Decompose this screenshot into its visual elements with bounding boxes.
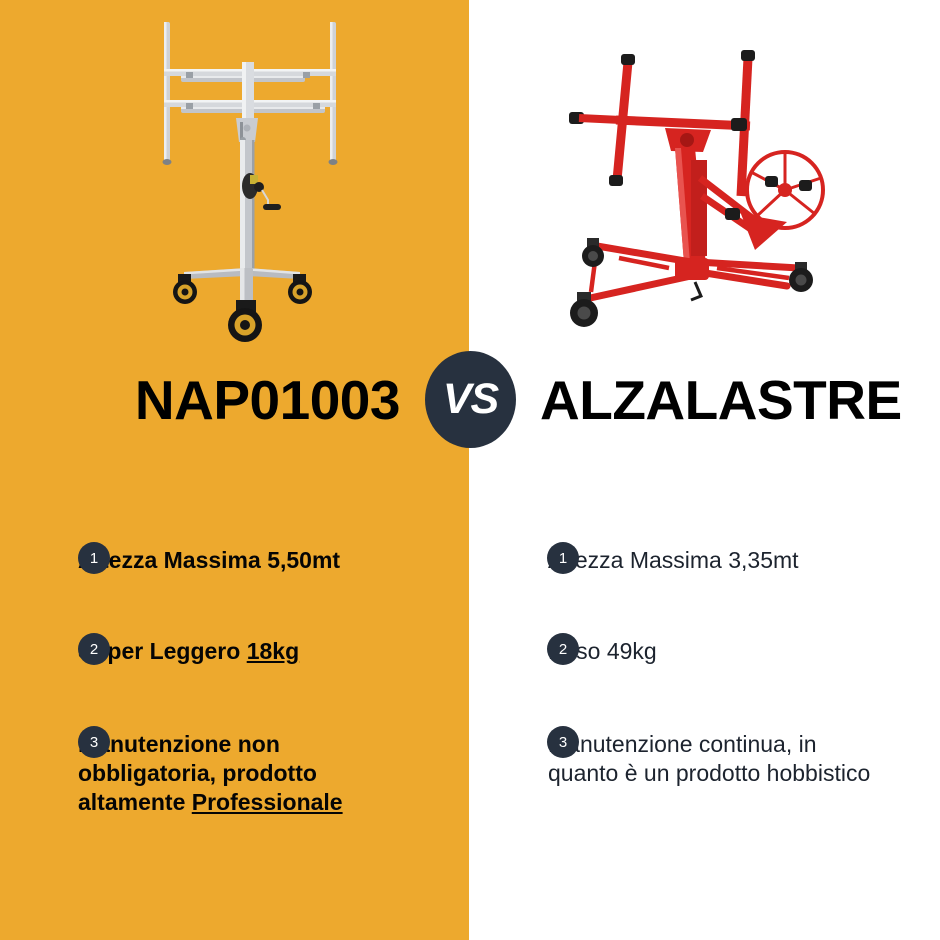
right-product-image xyxy=(469,0,940,350)
feature-row: Super Leggero 18kg Peso 49kg 2 2 xyxy=(0,611,940,704)
silver-drywall-lift-illustration xyxy=(0,0,469,350)
base-wheel xyxy=(582,238,604,267)
right-feature-number: 3 xyxy=(547,726,579,758)
caster-wheel xyxy=(228,300,262,342)
right-feature-cell: Altezza Massima 3,35mt xyxy=(469,520,940,611)
left-feature-cell: Manutenzione non obbligatoria, prodotto … xyxy=(0,704,469,864)
feature-comparison-table: Altezza Massima 5,50mt Altezza Massima 3… xyxy=(0,520,940,864)
left-feature-text: Altezza Massima 5,50mt xyxy=(78,546,340,575)
left-feature-number: 3 xyxy=(78,726,110,758)
left-feature-text: Manutenzione non obbligatoria, prodotto … xyxy=(78,730,408,817)
comparison-infographic: NAP01003 ALZALASTRE VS Altezza Massima 5… xyxy=(0,0,940,940)
right-feature-number: 2 xyxy=(547,633,579,665)
right-product-title: ALZALASTRE xyxy=(540,350,940,450)
left-product-title: NAP01003 xyxy=(0,350,400,450)
feature-row: Altezza Massima 5,50mt Altezza Massima 3… xyxy=(0,520,940,611)
right-feature-cell: Peso 49kg xyxy=(469,611,940,704)
left-feature-number: 2 xyxy=(78,633,110,665)
right-feature-number: 1 xyxy=(547,542,579,574)
right-feature-text: Manutenzione continua, in quanto è un pr… xyxy=(548,730,878,788)
winch-wheel xyxy=(747,152,823,228)
left-feature-cell: Super Leggero 18kg xyxy=(0,611,469,704)
red-drywall-lift-illustration xyxy=(469,0,940,350)
right-feature-cell: Manutenzione continua, in quanto è un pr… xyxy=(469,704,940,864)
left-product-image xyxy=(0,0,469,350)
left-feature-number: 1 xyxy=(78,542,110,574)
left-feature-cell: Altezza Massima 5,50mt xyxy=(0,520,469,611)
right-feature-text: Altezza Massima 3,35mt xyxy=(548,546,799,575)
left-feature-text: Super Leggero 18kg xyxy=(78,637,299,666)
feature-row: Manutenzione non obbligatoria, prodotto … xyxy=(0,704,940,864)
vs-badge: VS xyxy=(425,351,516,448)
